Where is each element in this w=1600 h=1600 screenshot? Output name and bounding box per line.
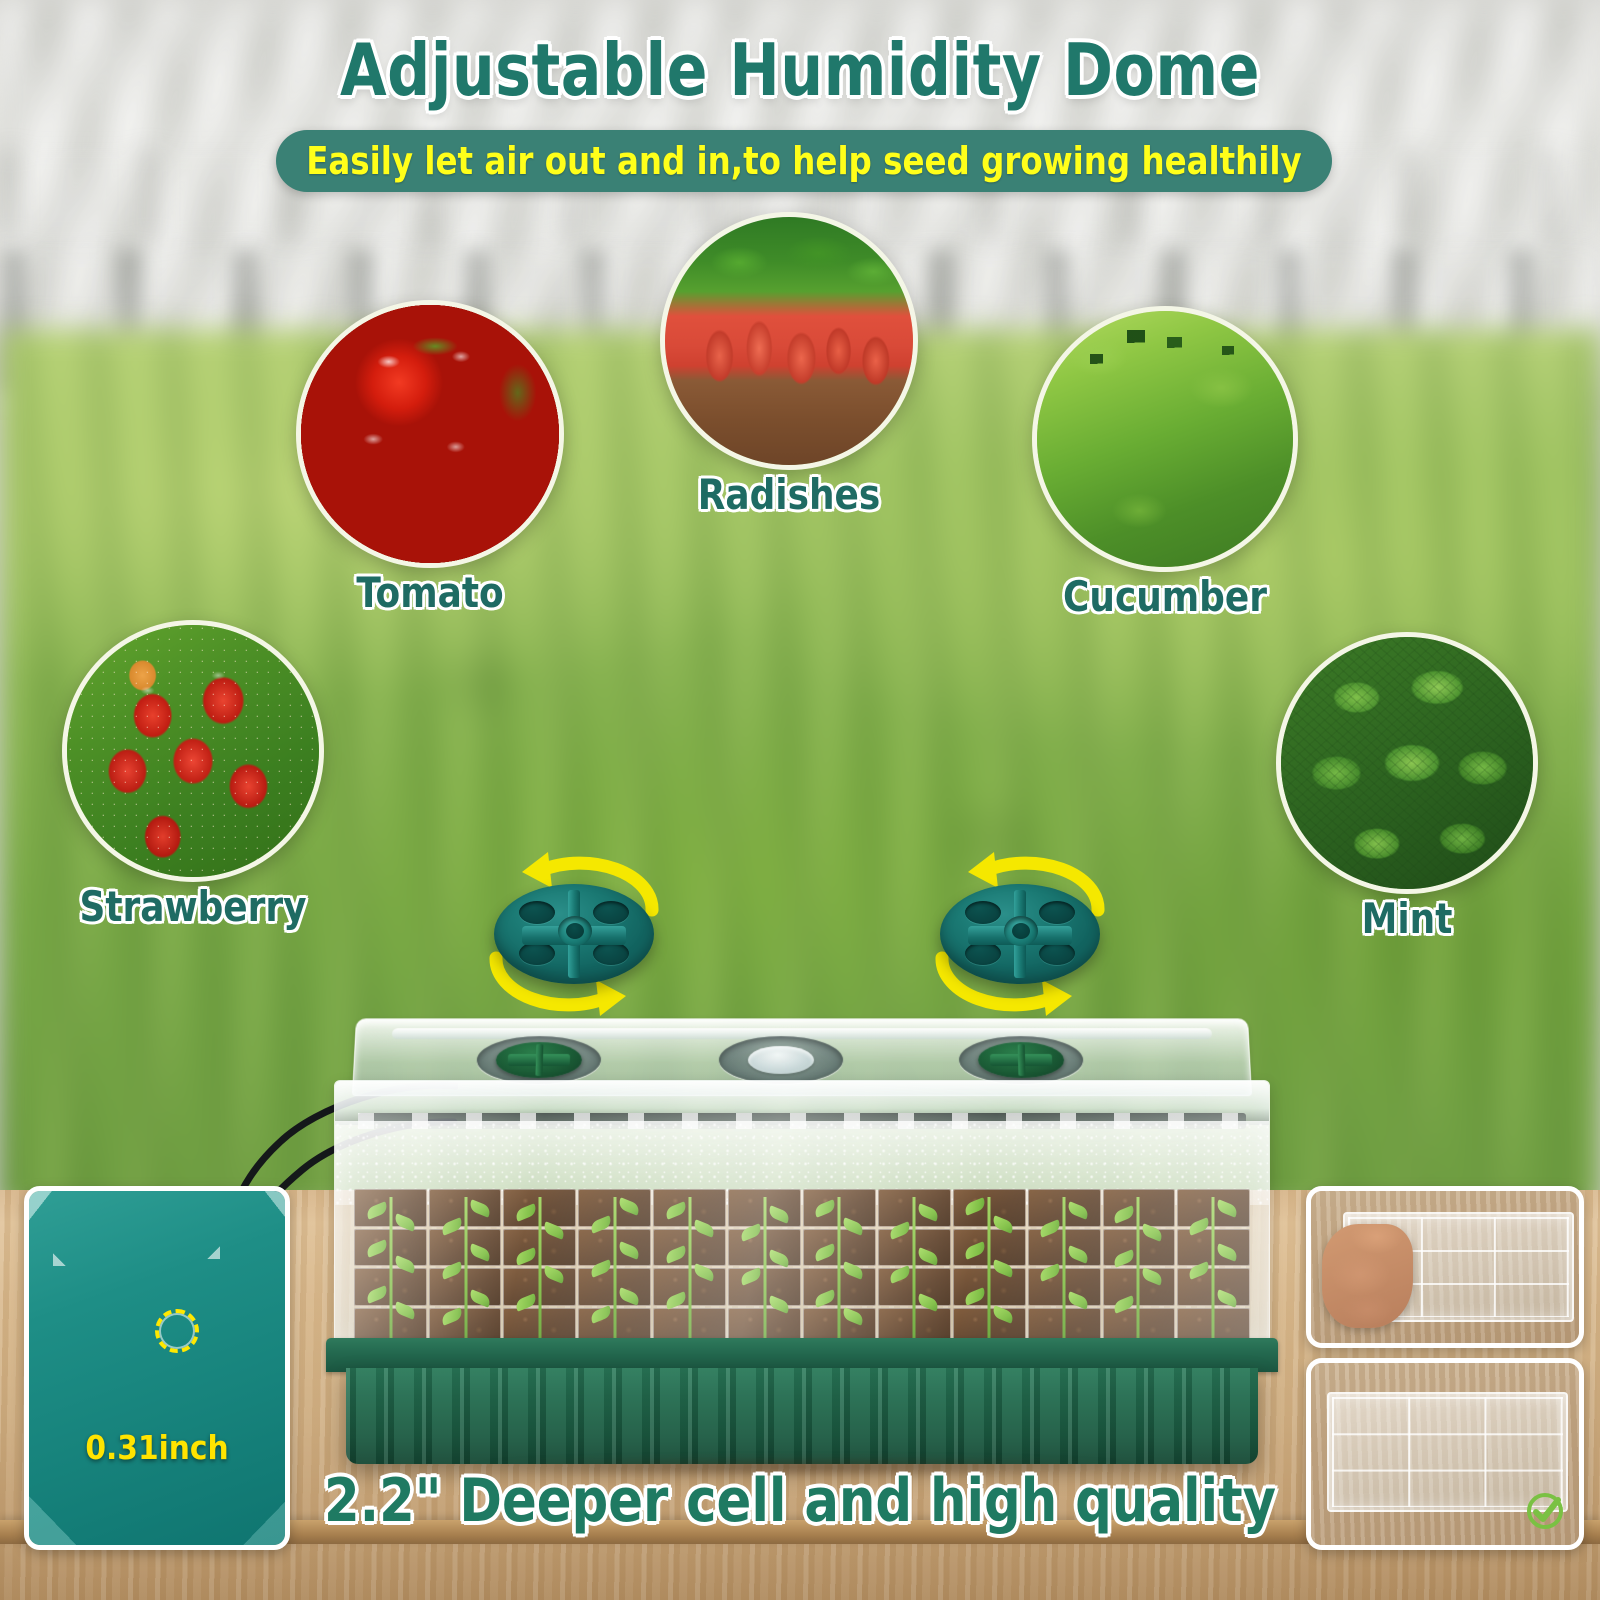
soil-cell	[1028, 1229, 1101, 1267]
installed-vent-knob[interactable]	[495, 1042, 582, 1078]
hand	[1322, 1224, 1413, 1327]
vent-hole	[593, 942, 629, 965]
soil-cell	[1028, 1189, 1101, 1227]
soil-cell	[1103, 1189, 1176, 1227]
inset-hand-holding-insert	[1306, 1186, 1584, 1348]
cucumber-image	[1037, 311, 1293, 567]
soil-cell	[653, 1229, 726, 1267]
knob-hub-vertical	[535, 1044, 543, 1076]
page-title: Adjustable Humidity Dome	[56, 28, 1544, 112]
soil-cell	[354, 1189, 427, 1227]
plant-card-strawberry: Strawberry	[62, 620, 324, 944]
soil-cell	[653, 1268, 726, 1306]
soil-cell	[803, 1189, 876, 1227]
plant-label-strawberry: Strawberry	[69, 882, 318, 931]
soil-cell	[354, 1229, 427, 1267]
soil-cell	[429, 1268, 502, 1306]
vent-hole	[519, 901, 555, 924]
vent-hole	[519, 942, 555, 965]
insert-photo-top	[1311, 1191, 1579, 1343]
subtitle-text: Easily let air out and in,to help seed g…	[306, 139, 1302, 183]
soil-cell	[653, 1189, 726, 1227]
vent-hole	[1039, 901, 1075, 924]
vent-knob-right[interactable]	[920, 848, 1120, 1018]
vent-port-left[interactable]	[476, 1036, 602, 1084]
soil-cell	[1028, 1268, 1101, 1306]
soil-cell	[429, 1229, 502, 1267]
soil-cell	[728, 1229, 801, 1267]
radishes-photo	[660, 212, 918, 470]
tomato-image	[301, 305, 559, 563]
plant-label-radishes: Radishes	[666, 470, 911, 519]
vent-hole	[965, 942, 1001, 965]
knob-hub-vertical	[1018, 1044, 1026, 1076]
soil-cell	[953, 1189, 1026, 1227]
subtitle-banner: Easily let air out and in,to help seed g…	[276, 130, 1332, 192]
soil-cell	[578, 1268, 651, 1306]
plant-label-mint: Mint	[1283, 894, 1532, 943]
tray-base	[346, 1368, 1258, 1464]
footer-headline: 2.2" Deeper cell and high quality	[40, 1466, 1560, 1536]
plant-label-tomato: Tomato	[303, 568, 558, 617]
soil-cell	[728, 1268, 801, 1306]
soil-cell	[429, 1189, 502, 1227]
plant-card-tomato: Tomato	[296, 300, 564, 630]
drain-hole-measurement: 0.31inch	[29, 1428, 285, 1467]
vent-port-right[interactable]	[959, 1036, 1084, 1084]
open-vent-opening	[748, 1046, 814, 1074]
soil-cell	[728, 1189, 801, 1227]
plant-label-cucumber: Cucumber	[1039, 572, 1292, 621]
soil-cell	[1177, 1268, 1250, 1306]
highlight-circle-icon	[155, 1309, 199, 1353]
strawberry-photo	[62, 620, 324, 882]
strawberry-image	[67, 625, 319, 877]
soil-cell	[953, 1268, 1026, 1306]
soil-cell	[503, 1229, 576, 1267]
seed-starter-propagator	[318, 1018, 1286, 1448]
plant-card-radishes: Radishes	[660, 212, 918, 532]
soil-cell-grid	[354, 1189, 1251, 1345]
vent-knob-disc[interactable]	[940, 884, 1100, 984]
mint-photo	[1276, 632, 1538, 894]
soil-cell	[1177, 1229, 1250, 1267]
soil-cell	[803, 1268, 876, 1306]
soil-cell	[953, 1229, 1026, 1267]
radishes-image	[665, 217, 913, 465]
plant-card-mint: Mint	[1276, 632, 1538, 956]
vent-hole	[1039, 942, 1075, 965]
knob-center-hub	[1004, 916, 1038, 946]
soil-cell	[803, 1229, 876, 1267]
vent-port-middle[interactable]	[719, 1036, 843, 1084]
soil-cell	[1177, 1189, 1250, 1227]
knob-center-hub	[558, 916, 592, 946]
installed-vent-knob[interactable]	[978, 1042, 1065, 1078]
soil-cell	[503, 1189, 576, 1227]
vent-hole	[965, 901, 1001, 924]
mint-image	[1281, 637, 1533, 889]
vent-knob-disc[interactable]	[494, 884, 654, 984]
soil-cell	[578, 1229, 651, 1267]
tray-rim	[326, 1338, 1278, 1372]
soil-cell	[1103, 1229, 1176, 1267]
clear-dome-body	[334, 1080, 1270, 1348]
soil-cell	[354, 1268, 427, 1306]
vent-hole	[593, 901, 629, 924]
product-marketing-image: Adjustable Humidity Dome Easily let air …	[0, 0, 1600, 1600]
soil-cell	[878, 1189, 951, 1227]
plant-card-cucumber: Cucumber	[1032, 306, 1298, 634]
vent-knob-left[interactable]	[474, 848, 674, 1018]
soil-cell	[1103, 1268, 1176, 1306]
tomato-photo	[296, 300, 564, 568]
soil-cell	[503, 1268, 576, 1306]
soil-cell	[878, 1268, 951, 1306]
cucumber-photo	[1032, 306, 1298, 572]
soil-cell	[878, 1229, 951, 1267]
soil-cell	[578, 1189, 651, 1227]
